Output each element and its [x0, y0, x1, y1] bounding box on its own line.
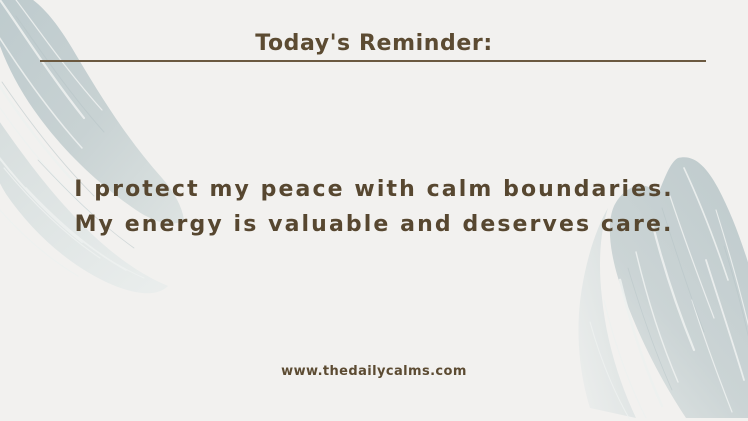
content-layer: Today's Reminder: I protect my peace wit…: [0, 0, 748, 421]
quote-line-1: I protect my peace with calm boundaries.: [0, 172, 748, 207]
reminder-card: Today's Reminder: I protect my peace wit…: [0, 0, 748, 421]
quote-block: I protect my peace with calm boundaries.…: [0, 172, 748, 242]
title-underline: [40, 60, 706, 62]
title-container: Today's Reminder:: [0, 32, 748, 56]
page-title: Today's Reminder:: [255, 32, 492, 56]
website-url: www.thedailycalms.com: [281, 364, 467, 379]
footer-container: www.thedailycalms.com: [0, 360, 748, 379]
quote-line-2: My energy is valuable and deserves care.: [0, 207, 748, 242]
